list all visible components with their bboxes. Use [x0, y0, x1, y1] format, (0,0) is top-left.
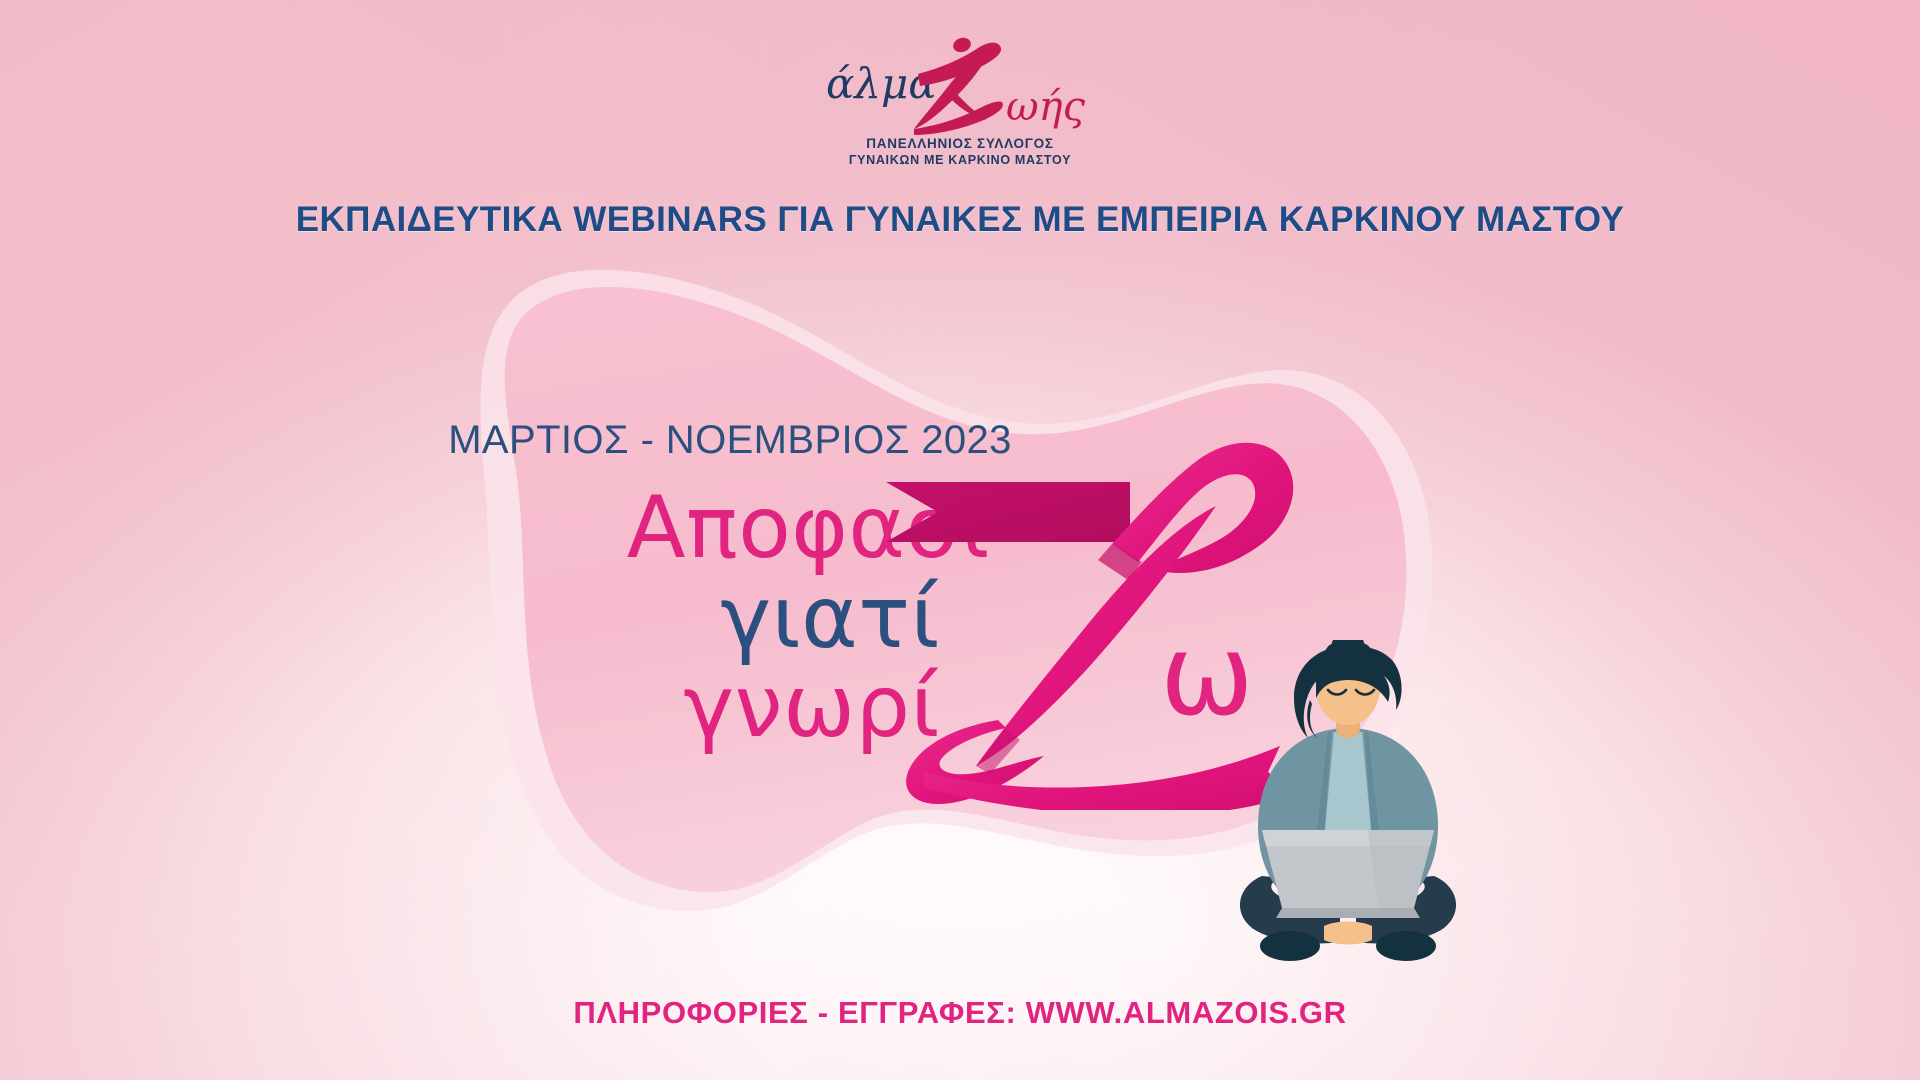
- woman-with-laptop-illustration: [1228, 640, 1468, 980]
- footer-info: ΠΛΗΡΟΦΟΡΙΕΣ - ΕΓΓΡΑΦΕΣ: WWW.ALMAZOIS.GR: [0, 995, 1920, 1031]
- page-headline: ΕΚΠΑΙΔΕΥΤΙΚΑ WEBINARS ΓΙΑ ΓΥΝΑΙΚΕΣ ΜΕ ΕΜ…: [0, 200, 1920, 240]
- logo-subtitle-line-2: ΓΥΝΑΙΚΩΝ ΜΕ ΚΑΡΚΙΝΟ ΜΑΣΤΟΥ: [810, 153, 1110, 169]
- organization-logo: άλμα ωής ΠΑΝΕΛΛΗΝΙΟΣ ΣΥΛΛΟΓΟΣ ΓΥΝΑΙΚΩΝ Μ…: [810, 28, 1110, 169]
- logo-word-right: ωής: [1006, 84, 1086, 130]
- logo-subtitle-line-1: ΠΑΝΕΛΛΗΝΙΟΣ ΣΥΛΛΟΓΟΣ: [810, 136, 1110, 153]
- logo-mark: άλμα ωής: [810, 28, 1110, 136]
